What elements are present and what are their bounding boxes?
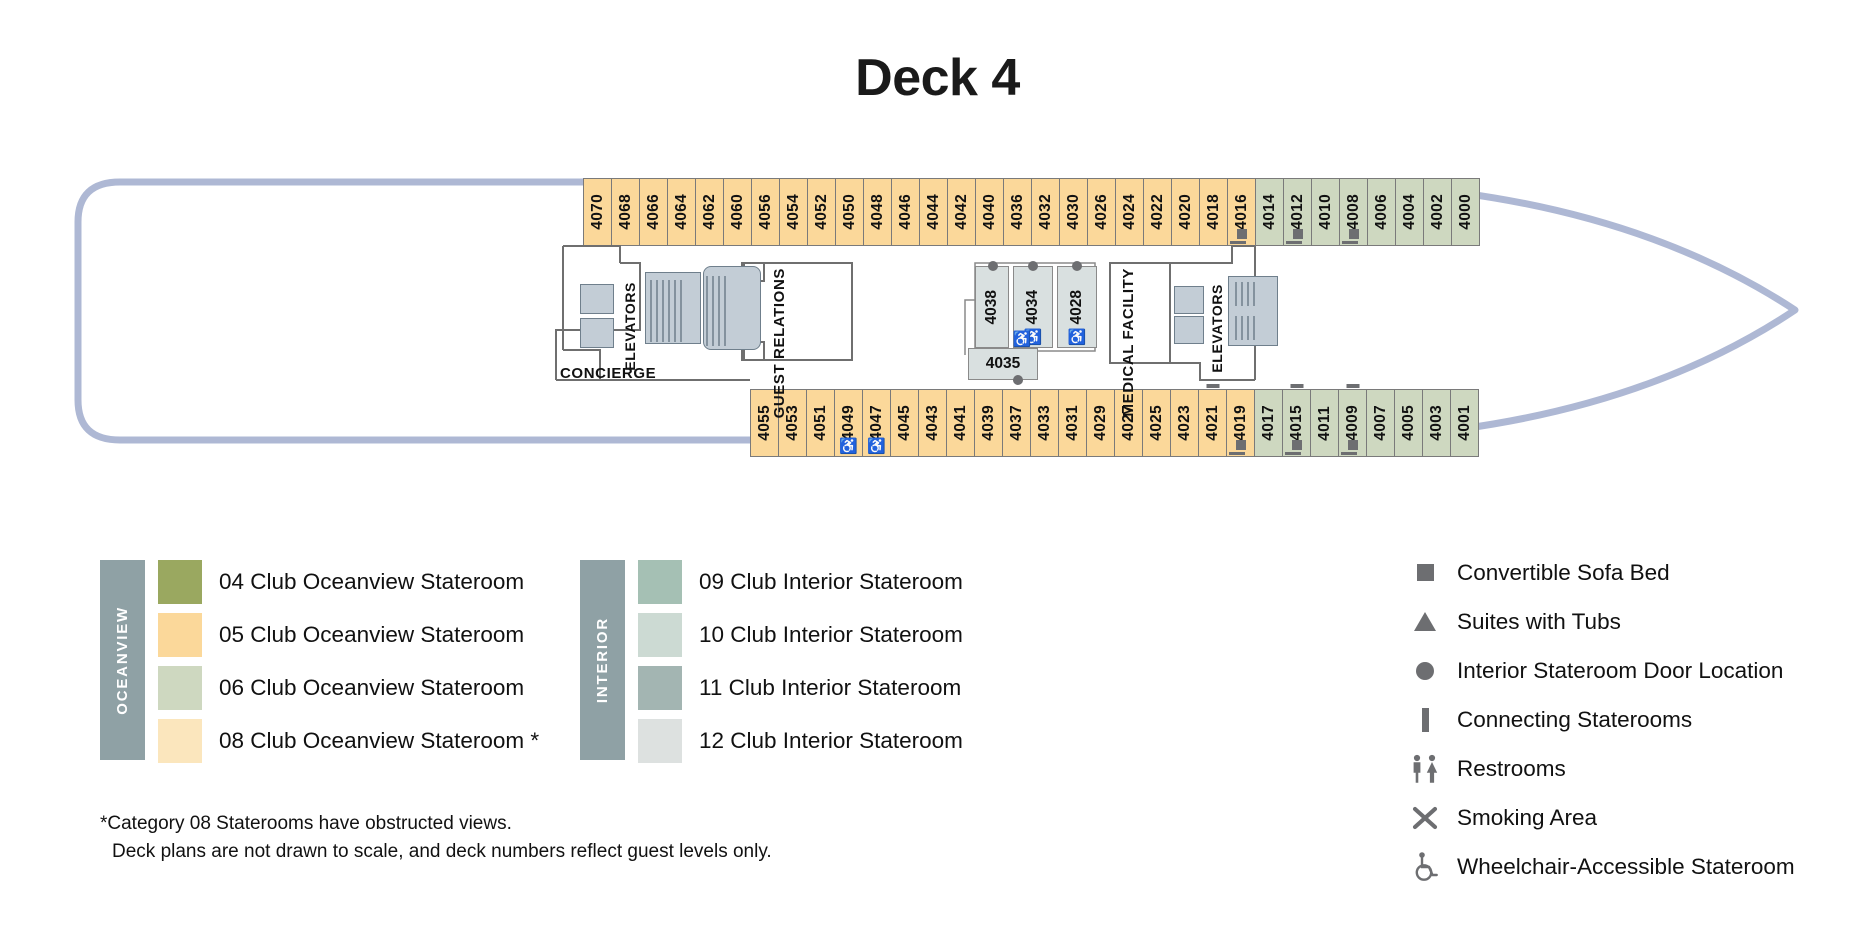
legend-swatch-10	[638, 613, 682, 657]
legend-item-10[interactable]: 10 Club Interior Stateroom	[638, 613, 963, 657]
legend-band-oceanview: OCEANVIEW	[100, 560, 145, 760]
wheelchair-icon-4028: ♿	[1068, 330, 1087, 345]
footnote-line-2: Deck plans are not drawn to scale, and d…	[100, 838, 772, 866]
wheelchair-icon	[1405, 852, 1445, 882]
legend-item-05[interactable]: 05 Club Oceanview Stateroom	[158, 613, 524, 657]
circle-icon	[1405, 662, 1445, 680]
legend-item-08[interactable]: 08 Club Oceanview Stateroom *	[158, 719, 539, 763]
legend-label-restrooms: Restrooms	[1457, 756, 1566, 782]
legend-label-08: 08 Club Oceanview Stateroom *	[219, 728, 539, 754]
legend-label-05: 05 Club Oceanview Stateroom	[219, 622, 524, 648]
legend-item-restrooms[interactable]: Restrooms	[1405, 744, 1795, 793]
legend-label-06: 06 Club Oceanview Stateroom	[219, 675, 524, 701]
legend-item-12[interactable]: 12 Club Interior Stateroom	[638, 719, 963, 763]
legend-label-04: 04 Club Oceanview Stateroom	[219, 569, 524, 595]
interior-stateroom-4038: 4038	[975, 266, 1009, 348]
label-concierge: CONCIERGE	[560, 365, 656, 382]
legend-swatch-11	[638, 666, 682, 710]
triangle-icon	[1405, 612, 1445, 631]
legend-swatch-09	[638, 560, 682, 604]
legend-label-wheelchair: Wheelchair-Accessible Stateroom	[1457, 854, 1795, 880]
interior-stateroom-4028: 4028 ♿	[1057, 266, 1097, 348]
bar-icon	[1405, 708, 1445, 732]
label-elevators-forward: ELEVATORS	[1209, 284, 1225, 373]
legend-label-10: 10 Club Interior Stateroom	[699, 622, 963, 648]
legend-item-09[interactable]: 09 Club Interior Stateroom	[638, 560, 963, 604]
legend-label-sofa-bed: Convertible Sofa Bed	[1457, 560, 1670, 586]
elevator-car-fwd-1	[1174, 286, 1204, 314]
label-elevators-port: ELEVATORS	[622, 282, 638, 371]
elevator-car-port-2	[580, 318, 614, 348]
cabin-number: 4028	[1068, 290, 1086, 324]
elevator-car-port-1	[580, 284, 614, 314]
door-dot-4034	[1028, 261, 1038, 271]
legend-item-connecting-staterooms[interactable]: Connecting Staterooms	[1405, 695, 1795, 744]
legend-band-interior: INTERIOR	[580, 560, 625, 760]
smoking-area-icon	[1405, 804, 1445, 832]
legend-label-door-location: Interior Stateroom Door Location	[1457, 658, 1783, 684]
elevator-car-fwd-2	[1174, 316, 1204, 344]
legend-swatch-12	[638, 719, 682, 763]
footnote: *Category 08 Staterooms have obstructed …	[100, 810, 772, 866]
cabin-number: 4034	[1024, 290, 1042, 324]
label-guest-relations: GUEST RELATIONS	[771, 268, 788, 418]
legend-swatch-04	[158, 560, 202, 604]
legend-item-convertible-sofa-bed[interactable]: Convertible Sofa Bed	[1405, 548, 1795, 597]
legend-swatch-05	[158, 613, 202, 657]
door-dot-4028	[1072, 261, 1082, 271]
legend: OCEANVIEW 04 Club Oceanview Stateroom 05…	[0, 548, 1875, 938]
legend-item-04[interactable]: 04 Club Oceanview Stateroom	[158, 560, 524, 604]
legend-item-interior-door-location[interactable]: Interior Stateroom Door Location	[1405, 646, 1795, 695]
legend-item-11[interactable]: 11 Club Interior Stateroom	[638, 666, 961, 710]
legend-label-connecting: Connecting Staterooms	[1457, 707, 1692, 733]
footnote-line-1: *Category 08 Staterooms have obstructed …	[100, 810, 772, 838]
legend-group-symbols: Convertible Sofa Bed Suites with Tubs In…	[1405, 548, 1795, 891]
legend-item-wheelchair-accessible[interactable]: Wheelchair-Accessible Stateroom	[1405, 842, 1795, 891]
legend-swatch-08	[158, 719, 202, 763]
legend-label-11: 11 Club Interior Stateroom	[699, 675, 961, 701]
square-icon	[1405, 564, 1445, 581]
legend-label-09: 09 Club Interior Stateroom	[699, 569, 963, 595]
door-dot-4038	[988, 261, 998, 271]
legend-label-suites-tubs: Suites with Tubs	[1457, 609, 1621, 635]
legend-swatch-06	[158, 666, 202, 710]
label-medical-facility: MEDICAL FACILITY	[1120, 268, 1137, 417]
restrooms-icon	[1405, 754, 1445, 784]
cabin-number: 4038	[983, 290, 1001, 324]
stair-treads-forward	[1228, 276, 1288, 348]
legend-label-12: 12 Club Interior Stateroom	[699, 728, 963, 754]
stair-treads-port	[645, 266, 765, 356]
legend-item-06[interactable]: 06 Club Oceanview Stateroom	[158, 666, 524, 710]
legend-label-smoking-area: Smoking Area	[1457, 805, 1597, 831]
legend-item-smoking-area[interactable]: Smoking Area	[1405, 793, 1795, 842]
legend-item-suites-with-tubs[interactable]: Suites with Tubs	[1405, 597, 1795, 646]
